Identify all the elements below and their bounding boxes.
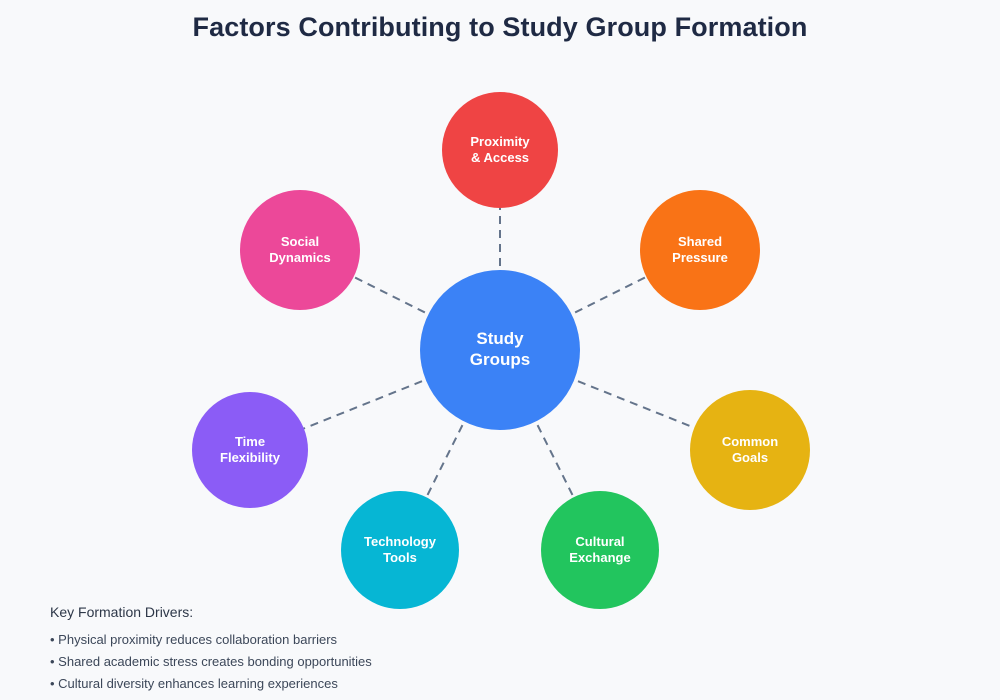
- node-social-dynamics[interactable]: Social Dynamics: [240, 190, 360, 310]
- key-driver-item: • Physical proximity reduces collaborati…: [50, 632, 690, 647]
- node-cultural-exchange[interactable]: Cultural Exchange: [541, 491, 659, 609]
- node-label-social-dynamics: Social Dynamics: [269, 234, 330, 266]
- node-label-shared-pressure: Shared Pressure: [672, 234, 728, 266]
- key-drivers-panel: Key Formation Drivers: • Physical proxim…: [50, 604, 690, 698]
- node-proximity-access[interactable]: Proximity & Access: [442, 92, 558, 208]
- node-label-proximity-access: Proximity & Access: [470, 134, 529, 166]
- node-label-study-groups: Study Groups: [470, 329, 530, 370]
- diagram-canvas: Factors Contributing to Study Group Form…: [0, 0, 1000, 700]
- node-common-goals[interactable]: Common Goals: [690, 390, 810, 510]
- node-label-common-goals: Common Goals: [722, 434, 778, 466]
- key-drivers-heading: Key Formation Drivers:: [50, 604, 690, 620]
- key-drivers-list: • Physical proximity reduces collaborati…: [50, 632, 690, 691]
- node-label-technology-tools: Technology Tools: [364, 534, 436, 566]
- node-label-time-flexibility: Time Flexibility: [220, 434, 280, 466]
- node-technology-tools[interactable]: Technology Tools: [341, 491, 459, 609]
- diagram-layer: Study GroupsProximity & AccessShared Pre…: [0, 0, 1000, 700]
- node-label-cultural-exchange: Cultural Exchange: [569, 534, 630, 566]
- key-driver-item: • Shared academic stress creates bonding…: [50, 654, 690, 669]
- node-study-groups[interactable]: Study Groups: [420, 270, 580, 430]
- node-shared-pressure[interactable]: Shared Pressure: [640, 190, 760, 310]
- key-driver-item: • Cultural diversity enhances learning e…: [50, 676, 690, 691]
- node-time-flexibility[interactable]: Time Flexibility: [192, 392, 308, 508]
